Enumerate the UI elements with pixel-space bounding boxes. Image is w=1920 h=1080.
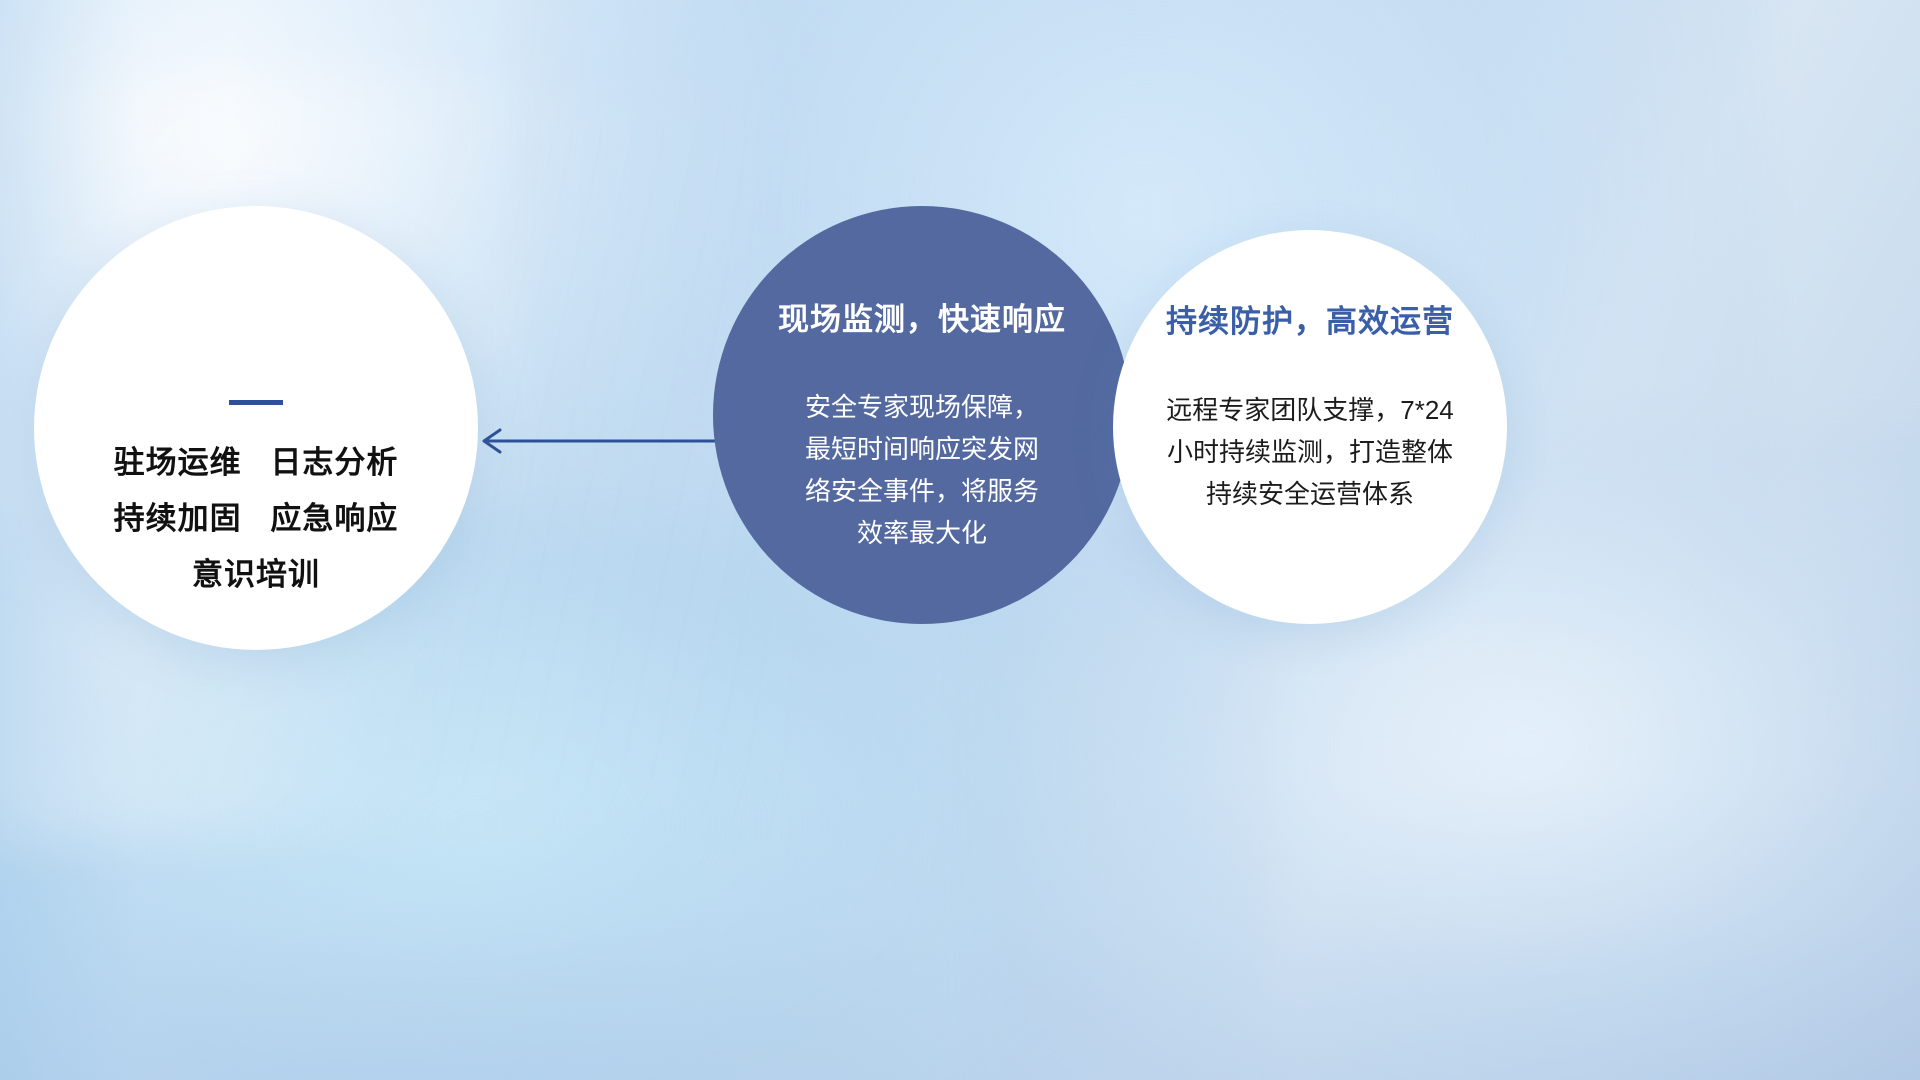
circle-middle-body-line: 最短时间响应突发网 [772,428,1072,470]
circle-right-body-line: 持续安全运营体系 [1132,473,1488,515]
circle-right-body-line: 远程专家团队支撑，7*24 [1132,389,1488,431]
circle-right-title: 持续防护，高效运营 [1166,296,1454,341]
circle-middle[interactable]: 现场监测，快速响应 安全专家现场保障， 最短时间响应突发网 络安全事件，将服务 … [713,206,1131,624]
circle-left-keyword-list: 驻场运维 日志分析 持续加固 应急响应 意识培训 [114,435,399,603]
circle-right[interactable]: 持续防护，高效运营 远程专家团队支撑，7*24 小时持续监测，打造整体 持续安全… [1113,230,1507,624]
circle-left[interactable]: 驻场运维 日志分析 持续加固 应急响应 意识培训 [34,206,478,650]
background-haze-bottom [0,780,1920,1080]
circle-left-keyword-row: 持续加固 应急响应 [114,491,399,547]
circle-middle-body-line: 效率最大化 [772,512,1072,554]
slide-canvas: 现场监测，快速响应 安全专家现场保障， 最短时间响应突发网 络安全事件，将服务 … [0,0,1920,1080]
circle-middle-body-line: 络安全事件，将服务 [772,470,1072,512]
circle-middle-body-line: 安全专家现场保障， [772,386,1072,428]
circle-left-keyword-row: 意识培训 [114,547,399,603]
circle-middle-body: 安全专家现场保障， 最短时间响应突发网 络安全事件，将服务 效率最大化 [772,386,1072,554]
circle-middle-title: 现场监测，快速响应 [778,294,1066,339]
circle-left-keyword-row: 驻场运维 日志分析 [114,435,399,491]
circle-right-body-line: 小时持续监测，打造整体 [1132,431,1488,473]
dash-divider-icon [229,400,283,405]
circle-right-body: 远程专家团队支撑，7*24 小时持续监测，打造整体 持续安全运营体系 [1132,389,1488,515]
